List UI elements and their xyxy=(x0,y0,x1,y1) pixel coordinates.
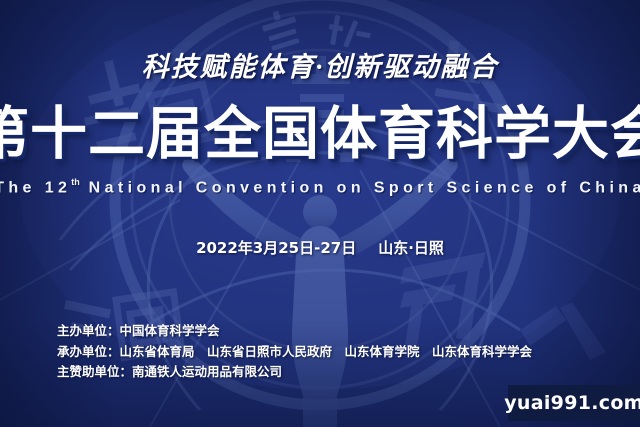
organizer-line-sponsor: 主赞助单位：南通铁人运动用品有限公司 xyxy=(57,362,532,383)
sub-title-ordinal-suffix: th xyxy=(71,177,80,187)
sub-title-before: The 12 xyxy=(0,179,71,196)
site-watermark-label: yuai991.com xyxy=(504,392,640,414)
sub-title-after: National Convention on Sport Science of … xyxy=(80,179,640,196)
organizer-block: 主办单位：中国体育科学学会 承办单位：山东省体育局 山东省日照市人民政府 山东体… xyxy=(57,321,532,383)
banner-sub-title: The 12th National Convention on Sport Sc… xyxy=(0,178,640,197)
banner-slogan: 科技赋能体育·创新驱动融合 xyxy=(0,45,640,84)
banner-date-location: 2022年3月25日-27日山东·日照 xyxy=(0,237,640,258)
event-location: 山东·日照 xyxy=(378,239,444,257)
organizer-line-host: 主办单位：中国体育科学学会 xyxy=(57,321,532,342)
site-watermark: yuai991.com xyxy=(508,385,640,421)
banner-main-title: 第十二届全国体育科学大会 xyxy=(0,103,640,165)
conference-banner: 科技赋能体育·创新驱动融合 第十二届全国体育科学大会 The 12th Nati… xyxy=(0,0,640,427)
organizer-line-coorganizers: 承办单位：山东省体育局 山东省日照市人民政府 山东体育学院 山东体育科学学会 xyxy=(57,342,532,363)
event-date: 2022年3月25日-27日 xyxy=(196,239,356,257)
